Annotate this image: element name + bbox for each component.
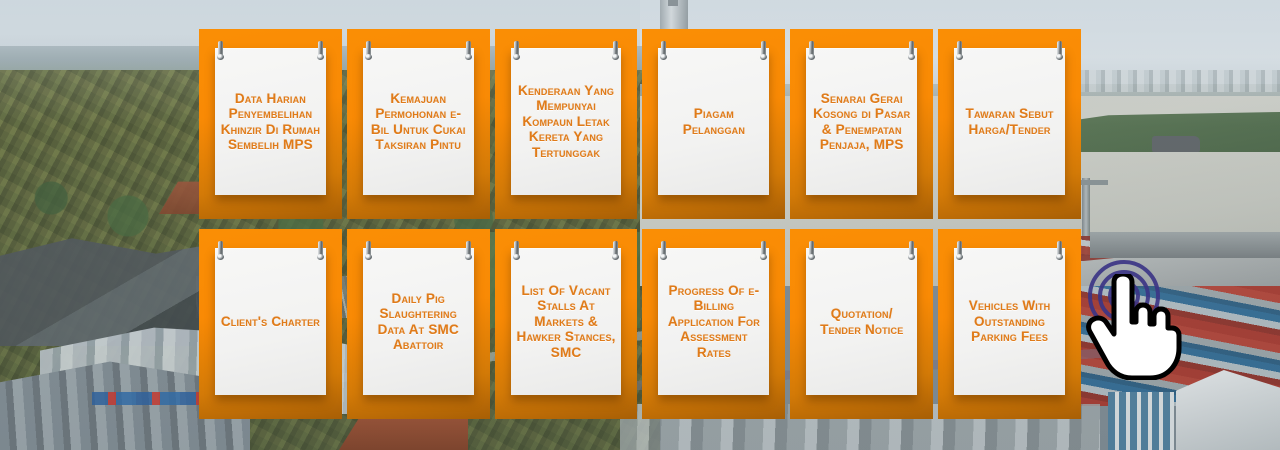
pin-icon-right bbox=[761, 41, 766, 57]
pin-icon-right bbox=[466, 241, 471, 257]
pin-icon-left bbox=[514, 41, 519, 57]
pin-icon-left bbox=[957, 241, 962, 257]
quick-link-card-kemajuan-permohonan-e-bil-cukai-taksiran-pintu[interactable]: Kemajuan Permohonan e-Bil Untuk Cukai Ta… bbox=[347, 29, 490, 219]
card-paper: Daily Pig Slaughtering Data At SMC Abatt… bbox=[363, 248, 474, 395]
pin-icon-left bbox=[514, 241, 519, 257]
pin-icon-left bbox=[957, 41, 962, 57]
quick-link-card-progress-of-e-billing-application-assessment-rates[interactable]: Progress Of e-Billing Application For As… bbox=[642, 229, 785, 419]
pin-icon-left bbox=[366, 241, 371, 257]
card-paper: Quotation/ Tender Notice bbox=[806, 248, 917, 395]
quick-link-card-data-harian-penyembelihan-khinzir[interactable]: Data Harian Penyembelihan Khinzir Di Rum… bbox=[199, 29, 342, 219]
card-paper: Kemajuan Permohonan e-Bil Untuk Cukai Ta… bbox=[363, 48, 474, 195]
card-paper: Progress Of e-Billing Application For As… bbox=[658, 248, 769, 395]
pin-icon-right bbox=[613, 41, 618, 57]
pin-icon-left bbox=[218, 241, 223, 257]
card-label: Data Harian Penyembelihan Khinzir Di Rum… bbox=[219, 91, 322, 153]
pin-icon-left bbox=[809, 241, 814, 257]
pin-icon-left bbox=[366, 41, 371, 57]
card-label: List Of Vacant Stalls At Markets & Hawke… bbox=[515, 283, 618, 361]
quick-link-card-piagam-pelanggan[interactable]: Piagam Pelanggan bbox=[642, 29, 785, 219]
pin-icon-right bbox=[909, 241, 914, 257]
card-label: Piagam Pelanggan bbox=[662, 106, 765, 137]
card-paper: Vehicles With Outstanding Parking Fees bbox=[954, 248, 1065, 395]
pin-icon-left bbox=[661, 241, 666, 257]
pin-icon-right bbox=[613, 241, 618, 257]
quick-link-card-daily-pig-slaughtering-data-smc-abattoir[interactable]: Daily Pig Slaughtering Data At SMC Abatt… bbox=[347, 229, 490, 419]
card-label: Kenderaan Yang Mempunyai Kompaun Letak K… bbox=[515, 83, 618, 161]
card-label: Tawaran Sebut Harga/Tender bbox=[958, 106, 1061, 137]
pin-icon-right bbox=[761, 241, 766, 257]
quick-link-card-tawaran-sebut-harga-tender[interactable]: Tawaran Sebut Harga/Tender bbox=[938, 29, 1081, 219]
quick-link-card-vehicles-with-outstanding-parking-fees[interactable]: Vehicles With Outstanding Parking Fees bbox=[938, 229, 1081, 419]
pin-icon-right bbox=[909, 41, 914, 57]
quick-link-card-senarai-gerai-kosong-pasar-penempatan-penjaja[interactable]: Senarai Gerai Kosong di Pasar & Penempat… bbox=[790, 29, 933, 219]
pin-icon-left bbox=[661, 41, 666, 57]
pin-icon-right bbox=[1057, 241, 1062, 257]
pin-icon-right bbox=[318, 41, 323, 57]
card-label: Progress Of e-Billing Application For As… bbox=[662, 283, 765, 361]
card-paper: Senarai Gerai Kosong di Pasar & Penempat… bbox=[806, 48, 917, 195]
pin-icon-right bbox=[466, 41, 471, 57]
pin-icon-right bbox=[1057, 41, 1062, 57]
quick-link-card-grid: Data Harian Penyembelihan Khinzir Di Rum… bbox=[199, 29, 1081, 419]
card-paper: Kenderaan Yang Mempunyai Kompaun Letak K… bbox=[511, 48, 622, 195]
card-paper: Piagam Pelanggan bbox=[658, 48, 769, 195]
pin-icon-right bbox=[318, 241, 323, 257]
quick-link-card-clients-charter[interactable]: Client's Charter bbox=[199, 229, 342, 419]
card-label: Vehicles With Outstanding Parking Fees bbox=[958, 298, 1061, 345]
card-paper: List Of Vacant Stalls At Markets & Hawke… bbox=[511, 248, 622, 395]
card-label: Senarai Gerai Kosong di Pasar & Penempat… bbox=[810, 91, 913, 153]
quick-link-card-quotation-tender-notice[interactable]: Quotation/ Tender Notice bbox=[790, 229, 933, 419]
card-label: Quotation/ Tender Notice bbox=[810, 306, 913, 337]
card-label: Kemajuan Permohonan e-Bil Untuk Cukai Ta… bbox=[367, 91, 470, 153]
card-paper: Client's Charter bbox=[215, 248, 326, 395]
quick-link-card-list-of-vacant-stalls-markets-hawker-stances[interactable]: List Of Vacant Stalls At Markets & Hawke… bbox=[495, 229, 638, 419]
quick-link-card-kenderaan-kompaun-letak-kereta-tertunggak[interactable]: Kenderaan Yang Mempunyai Kompaun Letak K… bbox=[495, 29, 638, 219]
card-paper: Data Harian Penyembelihan Khinzir Di Rum… bbox=[215, 48, 326, 195]
card-label: Daily Pig Slaughtering Data At SMC Abatt… bbox=[367, 291, 470, 353]
pin-icon-left bbox=[809, 41, 814, 57]
pin-icon-left bbox=[218, 41, 223, 57]
card-paper: Tawaran Sebut Harga/Tender bbox=[954, 48, 1065, 195]
card-label: Client's Charter bbox=[221, 314, 320, 330]
